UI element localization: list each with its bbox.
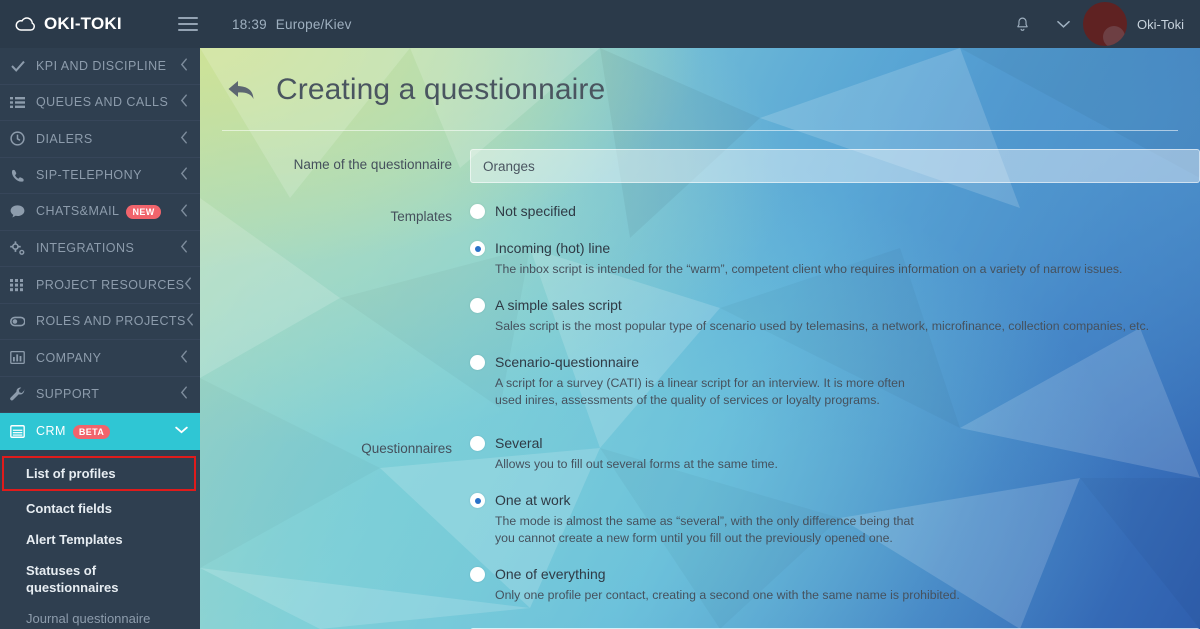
name-label: Name of the questionnaire	[200, 149, 470, 183]
sidebar-item-label: CHATS&MAILNEW	[36, 204, 180, 219]
topbar-right: Oki-Toki	[1001, 2, 1200, 46]
sidebar-item-sip-telephony[interactable]: SIP-TELEPHONY	[0, 158, 200, 195]
sidebar-item-label: KPI AND DISCIPLINE	[36, 59, 180, 73]
radio-option[interactable]: Incoming (hot) lineThe inbox script is i…	[470, 238, 1200, 278]
radio-button[interactable]	[470, 493, 485, 508]
sidebar-item-chats-mail[interactable]: CHATS&MAILNEW	[0, 194, 200, 231]
radio-option-label[interactable]: A simple sales script	[495, 295, 622, 315]
username: Oki-Toki	[1137, 17, 1188, 32]
wrench-icon	[10, 387, 36, 402]
sidebar-subitem-journal-questionnaire[interactable]: Journal questionnaire	[0, 603, 200, 629]
radio-option-label[interactable]: One of everything	[495, 564, 606, 584]
chevron-left-icon[interactable]	[180, 167, 188, 183]
table-glyph	[10, 425, 25, 438]
radio-option-label[interactable]: Scenario-questionnaire	[495, 352, 639, 372]
sidebar-item-kpi-and-discipline[interactable]: KPI AND DISCIPLINE	[0, 48, 200, 85]
sidebar-item-crm[interactable]: CRMBETA	[0, 413, 200, 450]
sidebar: KPI AND DISCIPLINEQUEUES AND CALLSDIALER…	[0, 48, 200, 629]
chevron-left-icon[interactable]	[180, 131, 188, 147]
radio-option-description: The inbox script is intended for the “wa…	[495, 261, 1200, 278]
chevron-left-icon[interactable]	[180, 204, 188, 220]
radio-option-description: Sales script is the most popular type of…	[495, 318, 1200, 335]
templates-label: Templates	[200, 201, 470, 411]
page-content: Creating a questionnaire Name of the que…	[200, 48, 1200, 629]
sidebar-nav: KPI AND DISCIPLINEQUEUES AND CALLSDIALER…	[0, 48, 200, 413]
new-badge: NEW	[126, 205, 160, 219]
sidebar-item-label: COMPANY	[36, 351, 180, 365]
sidebar-item-roles-and-projects[interactable]: ROLES AND PROJECTS	[0, 304, 200, 341]
back-arrow-icon[interactable]	[226, 75, 260, 105]
clock-time: 18:39	[232, 17, 267, 32]
chevron-left-icon[interactable]	[180, 350, 188, 366]
sidebar-subitem-alert-templates[interactable]: Alert Templates	[0, 524, 200, 555]
chevron-left-icon[interactable]	[180, 386, 188, 402]
chevron-left-icon[interactable]	[180, 240, 188, 256]
sidebar-item-label: QUEUES AND CALLS	[36, 95, 180, 109]
sidebar-item-support[interactable]: SUPPORT	[0, 377, 200, 414]
bar-chart-icon	[10, 350, 36, 365]
radio-button[interactable]	[470, 298, 485, 313]
form-row-name: Name of the questionnaire	[200, 149, 1200, 183]
brand-logo[interactable]: OKI-TOKI	[0, 13, 160, 35]
radio-button[interactable]	[470, 241, 485, 256]
top-bar: OKI-TOKI 18:39Europe/Kiev Oki-Toki	[0, 0, 1200, 48]
chevron-glyph	[175, 426, 188, 434]
back-arrow-glyph	[226, 77, 256, 103]
radio-option[interactable]: Scenario-questionnaireA script for a sur…	[470, 352, 1200, 409]
form-row-questionnaires: Questionnaires SeveralAllows you to fill…	[200, 433, 1200, 606]
radio-option[interactable]: SeveralAllows you to fill out several fo…	[470, 433, 1200, 473]
beta-badge: BETA	[73, 425, 110, 439]
sidebar-subitem-contact-fields[interactable]: Contact fields	[0, 493, 200, 524]
clock: 18:39Europe/Kiev	[232, 17, 352, 32]
phone-icon	[10, 168, 36, 183]
list-icon	[10, 95, 36, 110]
gears-icon	[10, 241, 36, 256]
radio-option[interactable]: A simple sales scriptSales script is the…	[470, 295, 1200, 335]
table-icon	[10, 425, 36, 438]
clock-icon	[10, 131, 36, 146]
chevron-down-icon[interactable]	[175, 426, 188, 437]
cloud-logo-icon	[14, 13, 36, 35]
clock-timezone: Europe/Kiev	[276, 17, 352, 32]
radio-option-label[interactable]: One at work	[495, 490, 570, 510]
sidebar-item-integrations[interactable]: INTEGRATIONS	[0, 231, 200, 268]
sidebar-submenu: List of profilesContact fieldsAlert Temp…	[0, 450, 200, 629]
sidebar-item-label: INTEGRATIONS	[36, 241, 180, 255]
radio-option[interactable]: One at workThe mode is almost the same a…	[470, 490, 1200, 547]
sidebar-item-crm-label: CRMBETA	[36, 424, 175, 439]
check-icon	[10, 58, 36, 73]
sidebar-subitem-list-of-profiles[interactable]: List of profiles	[2, 456, 196, 491]
sidebar-item-label: SUPPORT	[36, 387, 180, 401]
chevron-left-icon[interactable]	[180, 94, 188, 110]
hamburger-icon[interactable]	[166, 17, 210, 31]
grid-icon	[10, 277, 36, 292]
radio-button[interactable]	[470, 204, 485, 219]
chevron-down-icon[interactable]	[1043, 20, 1083, 29]
main-content: Creating a questionnaire Name of the que…	[200, 48, 1200, 629]
avatar[interactable]	[1083, 2, 1127, 46]
radio-option-label[interactable]: Not specified	[495, 201, 576, 221]
chevron-left-icon[interactable]	[180, 58, 188, 74]
form-row-templates: Templates Not specifiedIncoming (hot) li…	[200, 201, 1200, 411]
radio-option[interactable]: Not specified	[470, 201, 1200, 221]
sidebar-item-queues-and-calls[interactable]: QUEUES AND CALLS	[0, 85, 200, 122]
radio-option[interactable]: One of everythingOnly one profile per co…	[470, 564, 1200, 604]
radio-option-label[interactable]: Several	[495, 433, 542, 453]
bell-icon[interactable]	[1001, 15, 1043, 34]
toggle-icon	[10, 314, 36, 329]
radio-button[interactable]	[470, 355, 485, 370]
sidebar-item-company[interactable]: COMPANY	[0, 340, 200, 377]
questionnaire-name-input[interactable]	[470, 149, 1200, 183]
sidebar-item-label: PROJECT RESOURCES	[36, 278, 184, 292]
questionnaires-radio-group: SeveralAllows you to fill out several fo…	[470, 433, 1200, 606]
sidebar-item-dialers[interactable]: DIALERS	[0, 121, 200, 158]
app-window: OKI-TOKI 18:39Europe/Kiev Oki-Toki	[0, 0, 1200, 629]
sidebar-item-project-resources[interactable]: PROJECT RESOURCES	[0, 267, 200, 304]
page-title: Creating a questionnaire	[276, 73, 605, 107]
radio-button[interactable]	[470, 567, 485, 582]
radio-option-label[interactable]: Incoming (hot) line	[495, 238, 610, 258]
bell-glyph	[1014, 15, 1031, 34]
radio-option-description: A script for a survey (CATI) is a linear…	[495, 375, 1200, 409]
page-header: Creating a questionnaire	[200, 48, 1200, 118]
chevron-left-icon[interactable]	[184, 277, 192, 293]
radio-option-description: Allows you to fill out several forms at …	[495, 456, 1200, 473]
sidebar-item-label: DIALERS	[36, 132, 180, 146]
sidebar-item-label: ROLES AND PROJECTS	[36, 314, 186, 328]
questionnaire-form: Name of the questionnaire Templates Not …	[200, 131, 1200, 629]
chat-icon	[10, 204, 36, 219]
sidebar-item-label: SIP-TELEPHONY	[36, 168, 180, 182]
sidebar-subitem-statuses-of-questionnaires[interactable]: Statuses of questionnaires	[0, 555, 200, 603]
radio-option-description: Only one profile per contact, creating a…	[495, 587, 1200, 604]
templates-radio-group: Not specifiedIncoming (hot) lineThe inbo…	[470, 201, 1200, 411]
chevron-left-icon[interactable]	[186, 313, 194, 329]
radio-button[interactable]	[470, 436, 485, 451]
chevron-glyph	[1057, 20, 1070, 29]
questionnaires-label: Questionnaires	[200, 433, 470, 606]
radio-option-description: The mode is almost the same as “several”…	[495, 513, 1200, 547]
brand-text: OKI-TOKI	[44, 14, 122, 34]
